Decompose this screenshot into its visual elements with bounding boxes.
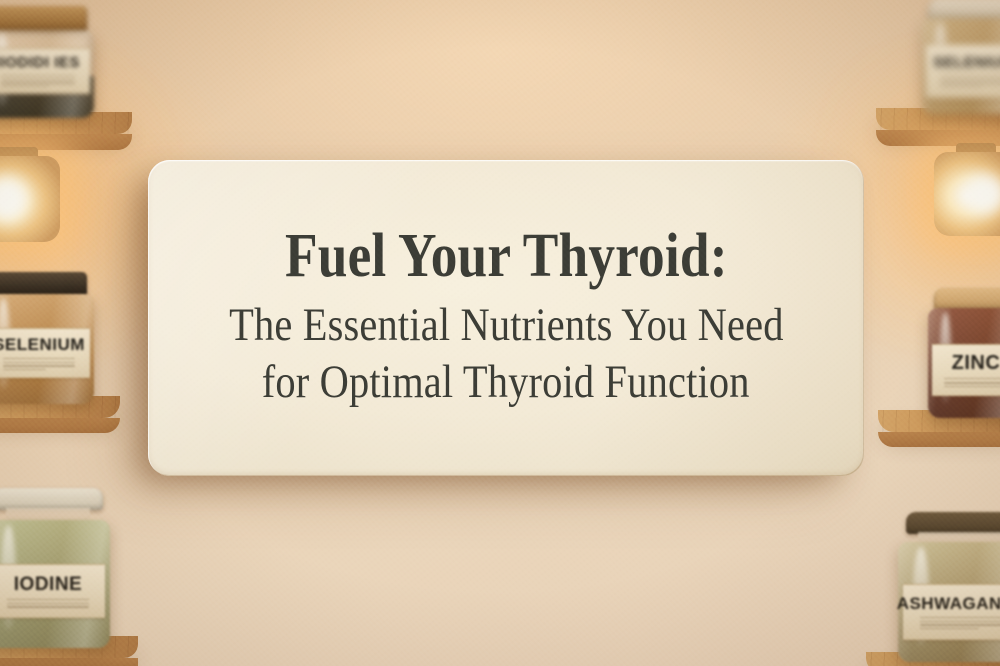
jar-left-bottom: IODINE bbox=[0, 488, 110, 648]
jar-lid bbox=[934, 288, 1000, 310]
jar-label-text: ZINC bbox=[952, 353, 1000, 373]
jar-left-top: IIODIDI IES bbox=[0, 6, 94, 118]
jar-lid bbox=[906, 512, 1000, 534]
jar-lid bbox=[0, 6, 87, 32]
jar-label-text: IIODIDI IES bbox=[0, 55, 80, 70]
jar-label: SELENIUM bbox=[926, 44, 1000, 98]
sign-subline-2: for Optimal Thyroid Function bbox=[262, 359, 750, 407]
jar-label-text: ASHWAGANDA bbox=[897, 595, 1000, 612]
jar-lid bbox=[0, 488, 103, 510]
jar-label: ASHWAGANDA bbox=[903, 584, 1000, 640]
jar-label: SELENIUM bbox=[0, 328, 90, 378]
jar-right-top: SELENIUM bbox=[922, 0, 1000, 114]
jar-label-text: SELENIUM bbox=[933, 55, 1000, 70]
jar-lid bbox=[928, 0, 1000, 20]
sign-subline-1: The Essential Nutrients You Need bbox=[229, 302, 783, 350]
jar-label: IODINE bbox=[0, 564, 105, 618]
sign-headline: Fuel Your Thyroid: bbox=[285, 225, 728, 288]
lamp-left bbox=[0, 156, 60, 242]
room-scene: IIODIDI IES SELENIUM IODIN bbox=[0, 0, 1000, 666]
wall-sign: Fuel Your Thyroid: The Essential Nutrien… bbox=[148, 160, 864, 476]
jar-label: IIODIDI IES bbox=[0, 48, 90, 94]
jar-right-bottom: ASHWAGANDA bbox=[898, 512, 1000, 662]
jar-label-text: IODINE bbox=[14, 575, 82, 594]
jar-label-text: SELENIUM bbox=[0, 336, 85, 353]
jar-right-middle: ZINC bbox=[928, 288, 1000, 418]
jar-left-middle: SELENIUM bbox=[0, 272, 94, 404]
jar-lid bbox=[0, 272, 87, 296]
lamp-right bbox=[934, 152, 1000, 236]
jar-label: ZINC bbox=[932, 344, 1000, 396]
